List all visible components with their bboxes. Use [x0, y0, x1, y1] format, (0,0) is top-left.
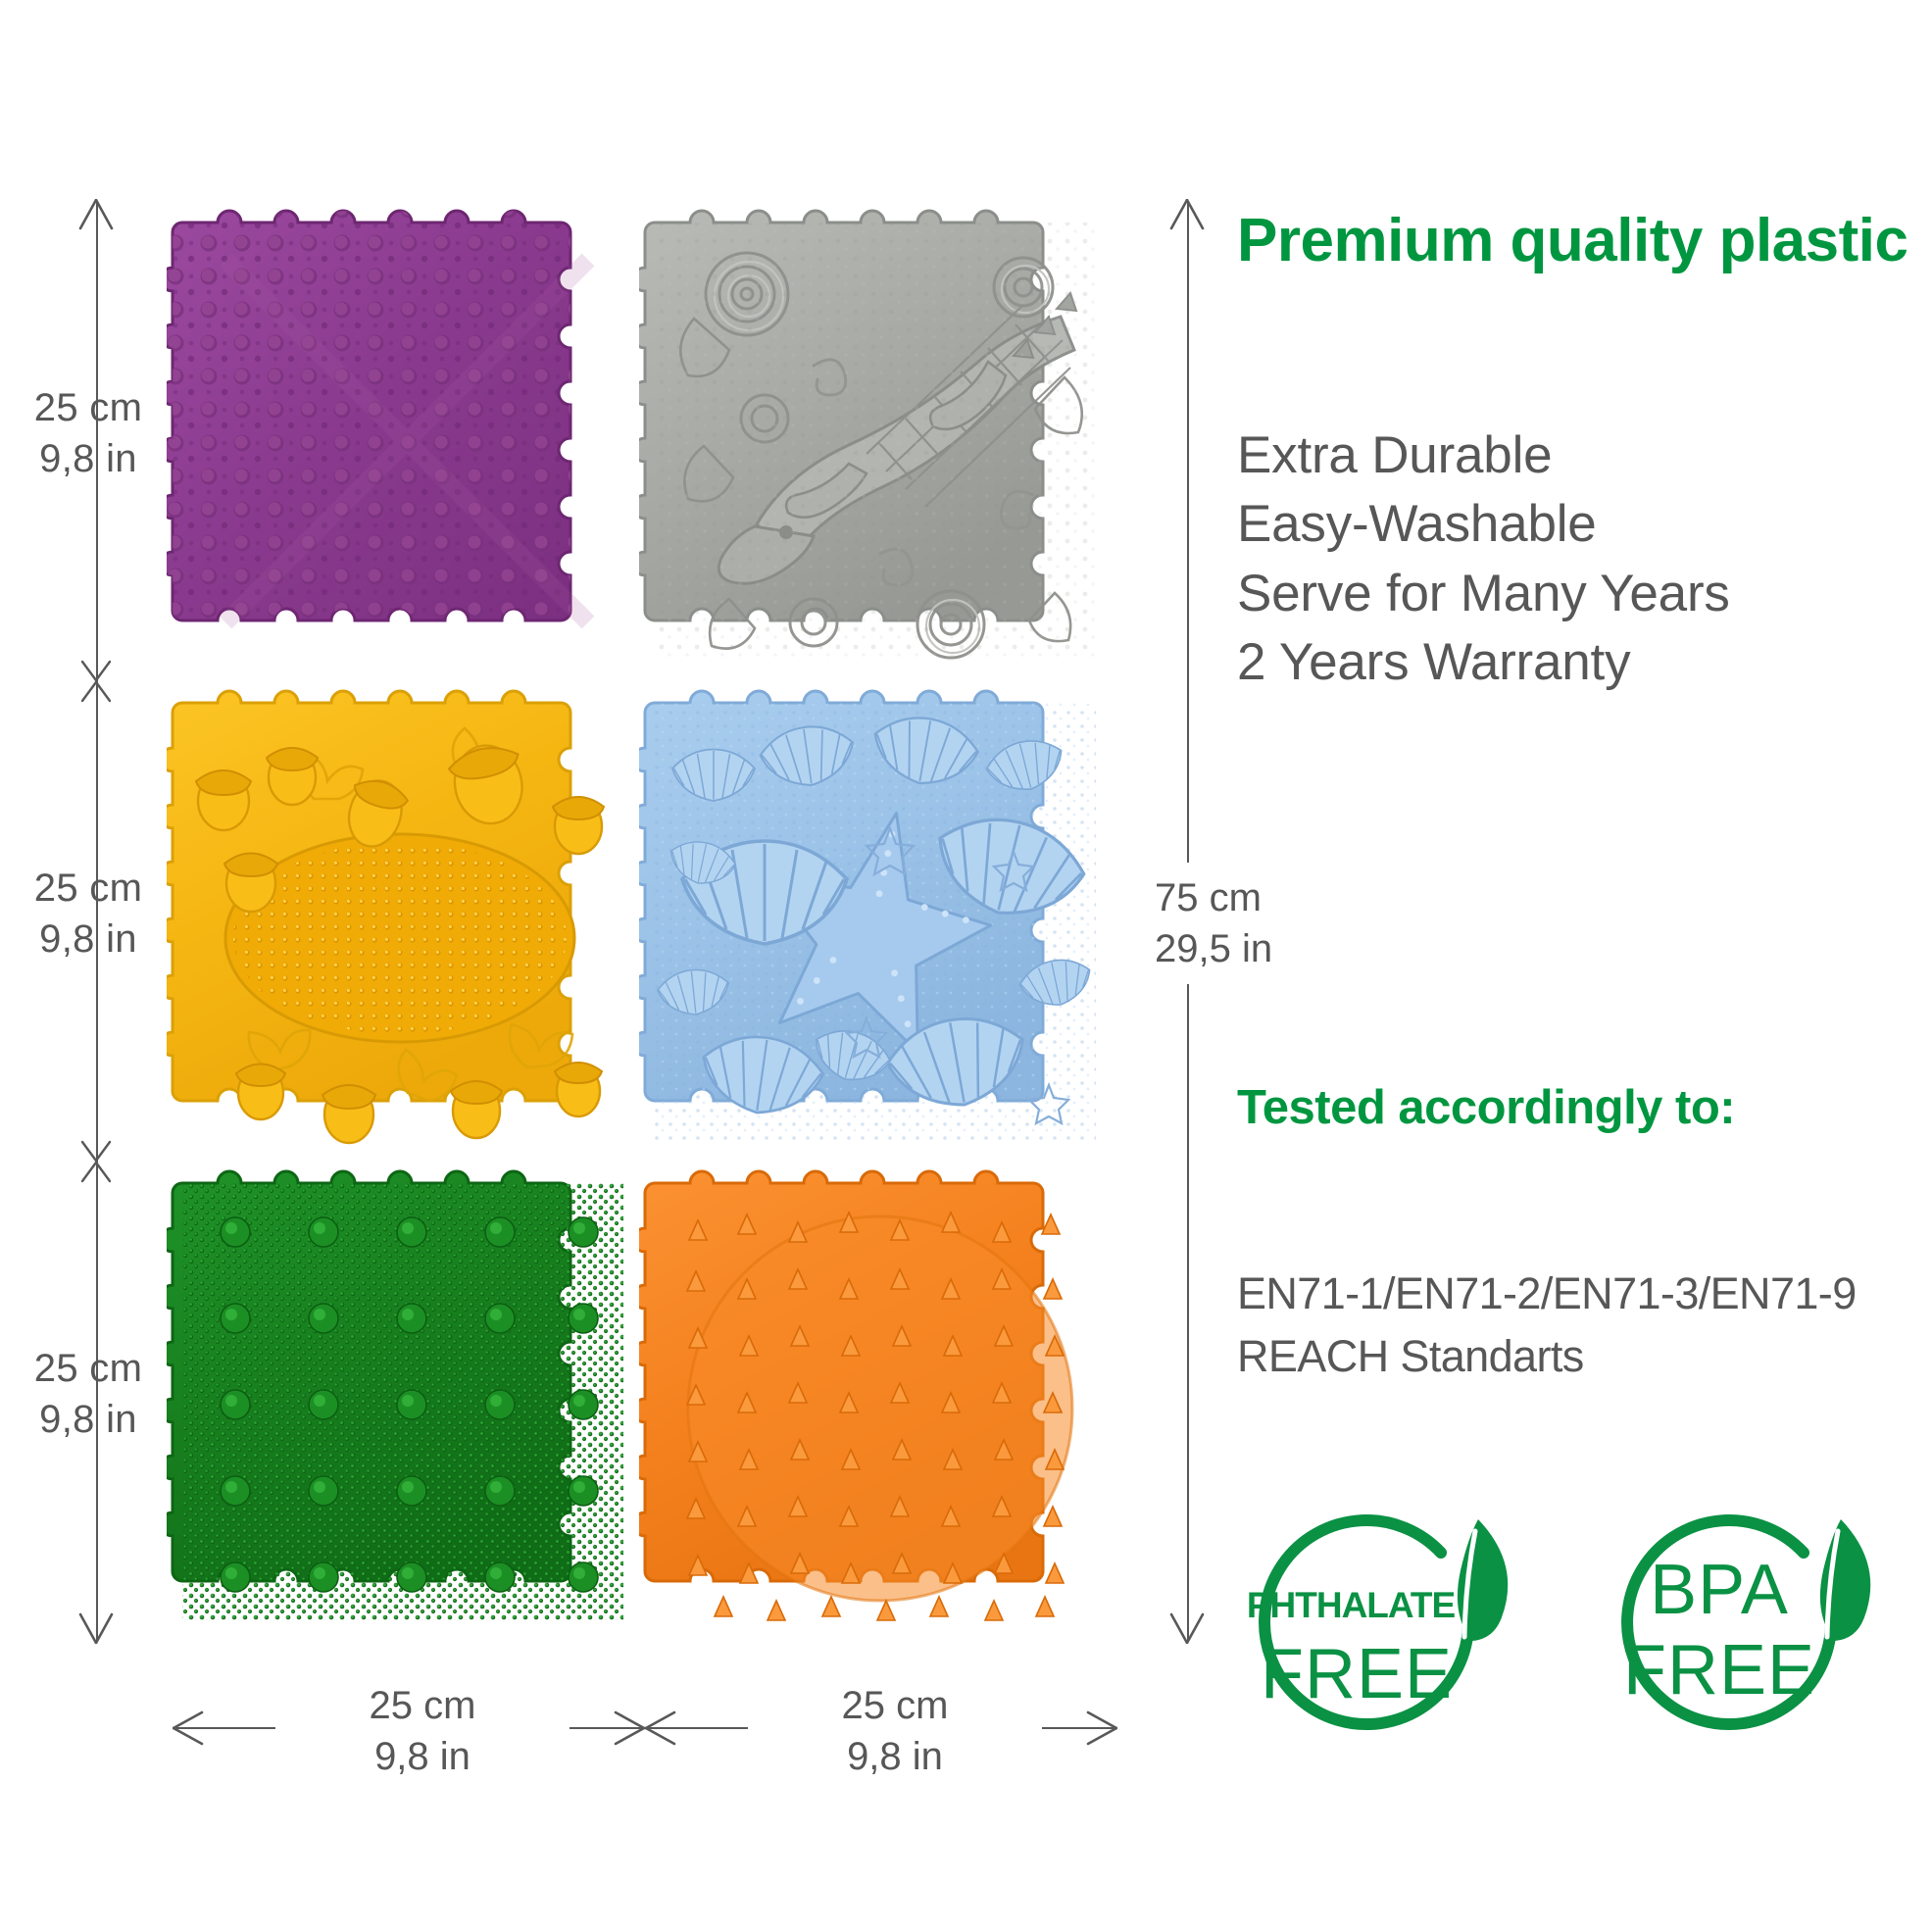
- col-width-in-2: 9,8 in: [762, 1731, 1028, 1782]
- tile-shape: [167, 201, 639, 681]
- arrow-right-icon: [1084, 1709, 1117, 1747]
- arrow-left-icon: [645, 1709, 678, 1747]
- feature-item: Serve for Many Years: [1237, 560, 1923, 628]
- row-height-cm-2: 25 cm: [0, 863, 176, 914]
- row-height-label-3: 25 cm 9,8 in: [0, 1343, 176, 1445]
- feature-item: Extra Durable: [1237, 421, 1923, 490]
- crocodile-tile[interactable]: [639, 201, 1112, 681]
- phthalate-free-badge: PHTHALATE FREE: [1231, 1510, 1545, 1804]
- ruler-tick-1: [75, 660, 117, 703]
- col-width-label-1: 25 cm 9,8 in: [275, 1680, 570, 1782]
- standard-item: EN71-1/EN71-2/EN71-3/EN71-9: [1237, 1263, 1923, 1325]
- spikes-sun-tile[interactable]: [639, 1162, 1112, 1642]
- seashells-starfish-tile[interactable]: [639, 681, 1112, 1162]
- tile-shape: [639, 1162, 1112, 1642]
- ruler-tick-2: [75, 1140, 117, 1183]
- infographic-canvas: 25 cm 9,8 in 25 cm 9,8 in 25 cm 9,8 in 7…: [0, 0, 1932, 1932]
- standard-item: REACH Standarts: [1237, 1325, 1923, 1388]
- arrow-down-icon: [1168, 1610, 1206, 1644]
- col-width-in-1: 9,8 in: [289, 1731, 556, 1782]
- tile-shape: [167, 1162, 639, 1642]
- row-height-label-1: 25 cm 9,8 in: [0, 382, 176, 484]
- tile-shape: [639, 681, 1112, 1162]
- puzzle-mat-grid: [167, 201, 1113, 1642]
- bpa-free-line2: FREE: [1623, 1631, 1815, 1709]
- arrow-up-icon: [1168, 199, 1206, 232]
- phthalate-free-line2: FREE: [1261, 1635, 1453, 1713]
- row-height-label-2: 25 cm 9,8 in: [0, 863, 176, 965]
- row-height-in-2: 9,8 in: [0, 914, 176, 965]
- feature-item: 2 Years Warranty: [1237, 628, 1923, 697]
- arrow-right-icon: [612, 1709, 645, 1747]
- row-height-in-3: 9,8 in: [0, 1394, 176, 1445]
- bpa-free-badge: BPA FREE: [1594, 1510, 1907, 1804]
- premium-quality-heading: Premium quality plastic: [1237, 208, 1913, 274]
- feature-list: Extra Durable Easy-Washable Serve for Ma…: [1237, 421, 1923, 698]
- certification-badges: PHTHALATE FREE BPA FREE: [1237, 1510, 1923, 1833]
- bpa-free-line1: BPA: [1650, 1551, 1789, 1629]
- arrow-left-icon: [173, 1709, 206, 1747]
- arrow-up-icon: [77, 199, 115, 232]
- col-width-label-2: 25 cm 9,8 in: [748, 1680, 1042, 1782]
- phthalate-free-line1: PHTHALATE: [1247, 1585, 1456, 1625]
- standards-list: EN71-1/EN71-2/EN71-3/EN71-9 REACH Standa…: [1237, 1263, 1923, 1388]
- acorns-hedgehog-tile[interactable]: [167, 681, 639, 1162]
- massage-bubbles-tile[interactable]: [167, 201, 639, 681]
- grass-pebbles-tile[interactable]: [167, 1162, 639, 1642]
- tile-shape: [167, 681, 639, 1162]
- row-height-in-1: 9,8 in: [0, 433, 176, 484]
- tested-accordingly-heading: Tested accordingly to:: [1237, 1080, 1913, 1135]
- col-width-cm-2: 25 cm: [762, 1680, 1028, 1731]
- row-height-cm-1: 25 cm: [0, 382, 176, 433]
- tile-shape: [639, 201, 1112, 681]
- feature-item: Easy-Washable: [1237, 490, 1923, 559]
- row-height-cm-3: 25 cm: [0, 1343, 176, 1394]
- col-width-cm-1: 25 cm: [289, 1680, 556, 1731]
- info-panel: Premium quality plastic Extra Durable Ea…: [1237, 0, 1923, 1932]
- arrow-down-icon: [77, 1610, 115, 1644]
